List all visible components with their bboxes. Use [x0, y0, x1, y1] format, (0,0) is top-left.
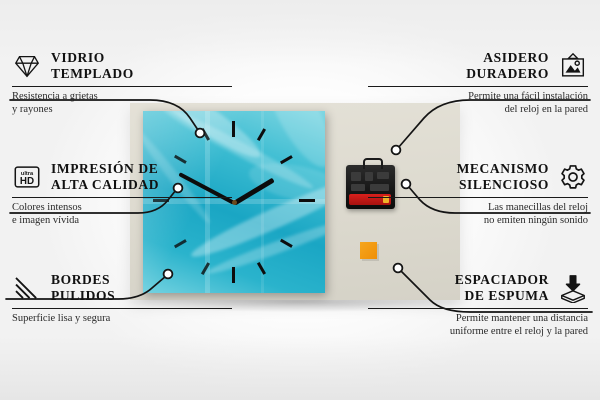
feature-subtitle: Permite una fácil instalación del reloj … [368, 91, 588, 116]
feature-rule [368, 197, 588, 198]
feature-title: ESPACIADOR DE ESPUMA [455, 272, 549, 303]
clock-center-cap [232, 200, 237, 205]
feature-rule [12, 86, 232, 87]
feature-heading: MECANISMO SILENCIOSO [368, 161, 588, 192]
feature-vidrio-templado: VIDRIO TEMPLADO Resistencia a grietas y … [12, 50, 232, 116]
foam-spacer [360, 242, 377, 259]
ultra-hd-bottom-text: HD [20, 176, 34, 187]
product-infographic: VIDRIO TEMPLADO Resistencia a grietas y … [0, 0, 600, 400]
feature-heading: BORDES PULIDOS [12, 272, 232, 303]
clock-tick [299, 199, 315, 202]
feature-heading: ESPACIADOR DE ESPUMA [368, 272, 588, 303]
polished-edges-icon [12, 273, 42, 303]
feature-subtitle: Superficie lisa y segura [12, 313, 232, 326]
feature-subtitle: Colores intensos e imagen vívida [12, 202, 232, 227]
foam-spacer-icon [558, 273, 588, 303]
feature-title: IMPRESIÓN DE ALTA CALIDAD [51, 161, 159, 192]
feature-subtitle: Resistencia a grietas y rayones [12, 91, 232, 116]
feature-rule [368, 308, 588, 309]
feature-heading: ultra HD IMPRESIÓN DE ALTA CALIDAD [12, 161, 232, 192]
feature-subtitle: Las manecillas del reloj no emiten ningú… [368, 202, 588, 227]
feature-rule [12, 308, 232, 309]
feature-espaciador-de-espuma: ESPACIADOR DE ESPUMA Permite mantener un… [368, 272, 588, 338]
feature-rule [12, 197, 232, 198]
feature-heading: VIDRIO TEMPLADO [12, 50, 232, 81]
clock-tick [232, 267, 235, 283]
feature-heading: ASIDERO DURADERO [368, 50, 588, 81]
feature-title: VIDRIO TEMPLADO [51, 50, 134, 81]
feature-title: MECANISMO SILENCIOSO [457, 161, 549, 192]
feature-title: ASIDERO DURADERO [466, 50, 549, 81]
ultra-hd-icon: ultra HD [12, 162, 42, 192]
feature-asidero-duradero: ASIDERO DURADERO Permite una fácil insta… [368, 50, 588, 116]
gear-icon [558, 162, 588, 192]
diamond-icon [12, 51, 42, 81]
feature-impresion-alta-calidad: ultra HD IMPRESIÓN DE ALTA CALIDAD Color… [12, 161, 232, 227]
feature-title: BORDES PULIDOS [51, 272, 115, 303]
clock-tick [232, 121, 235, 137]
feature-bordes-pulidos: BORDES PULIDOS Superficie lisa y segura [12, 272, 232, 326]
feature-rule [368, 86, 588, 87]
picture-hanger-icon [558, 51, 588, 81]
feature-mecanismo-silencioso: MECANISMO SILENCIOSO Las manecillas del … [368, 161, 588, 227]
feature-subtitle: Permite mantener una distancia uniforme … [368, 313, 588, 338]
